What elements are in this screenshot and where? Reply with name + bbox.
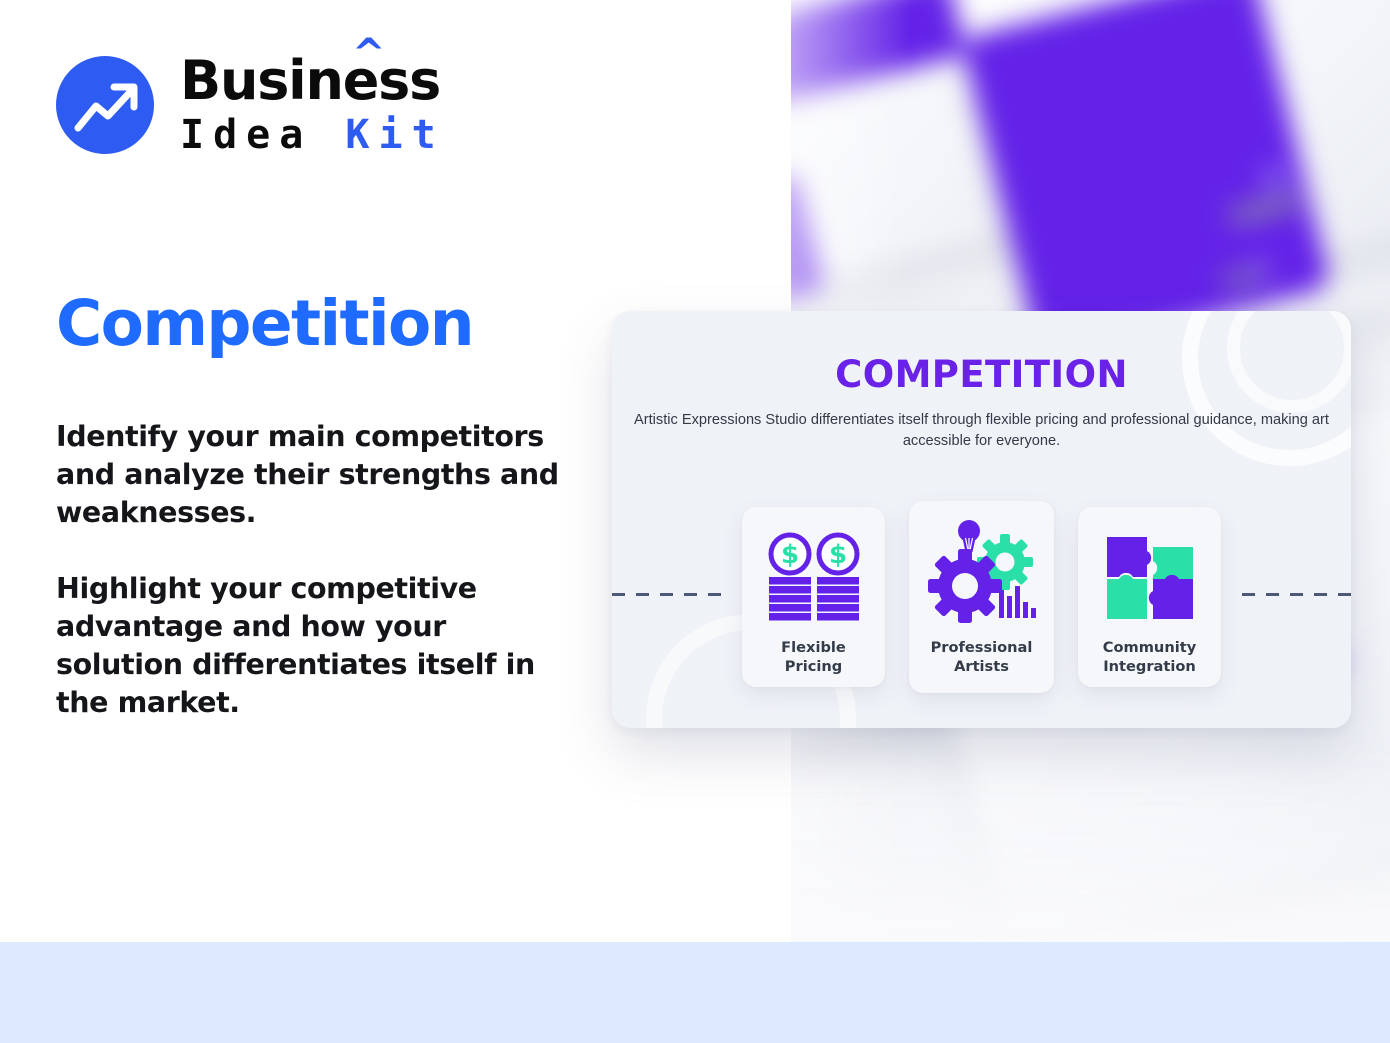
footer-band — [0, 942, 1390, 1043]
slide-preview-card[interactable]: COMPETITION Artistic Expressions Studio … — [612, 311, 1351, 728]
feature-tile-flexible-pricing[interactable]: $ $ — [742, 507, 885, 687]
slide-card-title: COMPETITION — [612, 353, 1351, 396]
brand-wordmark: Business ^ Idea Kit — [180, 54, 445, 156]
description-paragraph-2: Highlight your competitive advantage and… — [56, 570, 576, 722]
gears-lightbulb-chart-icon — [927, 515, 1037, 633]
svg-text:$: $ — [780, 540, 798, 570]
tile-label-line2: Artists — [954, 658, 1009, 675]
brand-name-line2: Idea Kit — [180, 114, 445, 156]
description-block: Identify your main competitors and analy… — [56, 418, 576, 722]
tile-label-line1: Community — [1103, 639, 1196, 656]
page-title: Competition — [56, 292, 473, 355]
feature-tile-label: Professional Artists — [931, 639, 1033, 676]
puzzle-pieces-icon — [1101, 527, 1199, 633]
slide-card-subtitle: Artistic Expressions Studio differentiat… — [612, 410, 1351, 451]
slide-page: Business ^ Idea Kit Competition Identify… — [0, 0, 1390, 1043]
brand-name-idea: Idea — [180, 112, 312, 158]
svg-text:$: $ — [828, 540, 846, 570]
trending-up-arrow-icon — [56, 56, 154, 154]
photo-bottom-fade — [791, 742, 1390, 942]
coin-stacks-icon: $ $ — [762, 527, 866, 633]
feature-tile-community-integration[interactable]: Community Integration — [1078, 507, 1221, 687]
tile-label-line2: Pricing — [785, 658, 842, 675]
description-paragraph-1: Identify your main competitors and analy… — [56, 418, 576, 532]
feature-tile-label: Flexible Pricing — [781, 639, 846, 676]
brand-circumflex-accent: ^ — [352, 34, 384, 74]
feature-tile-professional-artists[interactable]: Professional Artists — [909, 501, 1054, 693]
feature-tile-label: Community Integration — [1103, 639, 1196, 676]
brand-logo: Business ^ Idea Kit — [56, 54, 445, 156]
tile-label-line1: Professional — [931, 639, 1033, 656]
tile-label-line2: Integration — [1103, 658, 1196, 675]
brand-name-line1: Business ^ — [180, 54, 445, 108]
feature-tile-row: $ $ — [612, 501, 1351, 693]
brand-name-kit: Kit — [345, 112, 444, 158]
tile-label-line1: Flexible — [781, 639, 846, 656]
brand-name-primary: Business — [180, 49, 440, 112]
